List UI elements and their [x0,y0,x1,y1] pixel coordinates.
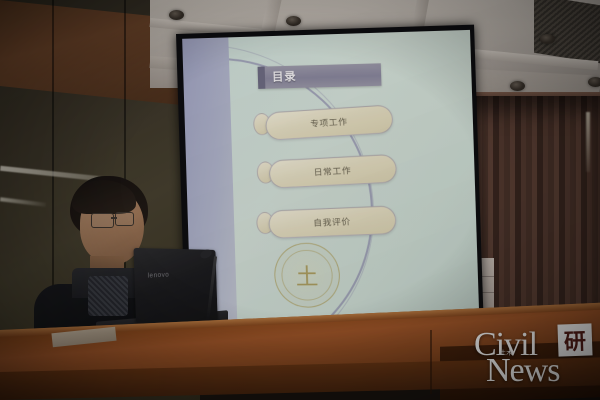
seal-glyph: 土 [274,243,339,306]
presentation-slide: 目录 专项工作 日常工作 自我评价 土 [228,30,480,335]
screen-surface: 目录 专项工作 日常工作 自我评价 土 [182,30,480,335]
recessed-downlight-icon [540,34,555,44]
glasses-icon [115,212,134,226]
ceiling-vent-icon [534,0,600,63]
podium-panel-seam [430,330,432,394]
university-seal: 土 [273,242,341,307]
slide-item-2-label: 日常工作 [313,164,351,178]
slide-item-3-label: 自我评价 [313,215,351,229]
glasses-icon [91,213,114,228]
recessed-downlight-icon [286,16,301,26]
laptop-lid[interactable]: lenovo [133,248,217,324]
slide-title: 目录 [272,68,297,85]
recessed-downlight-icon [588,77,600,87]
glasses-bridge [111,217,117,219]
slide-title-tab [258,67,266,89]
recessed-downlight-icon [169,10,184,20]
presenter-shirt [88,276,128,316]
lenovo-logo: lenovo [147,272,169,280]
window-light-gap [586,112,590,172]
slide-item-1-label: 专项工作 [310,115,348,130]
recessed-downlight-icon [510,81,525,91]
slide-item-3: 自我评价 [268,205,397,239]
projection-screen: 目录 专项工作 日常工作 自我评价 土 [176,25,484,341]
photograph: 目录 专项工作 日常工作 自我评价 土 [0,0,600,400]
slide-item-2: 日常工作 [268,154,397,189]
